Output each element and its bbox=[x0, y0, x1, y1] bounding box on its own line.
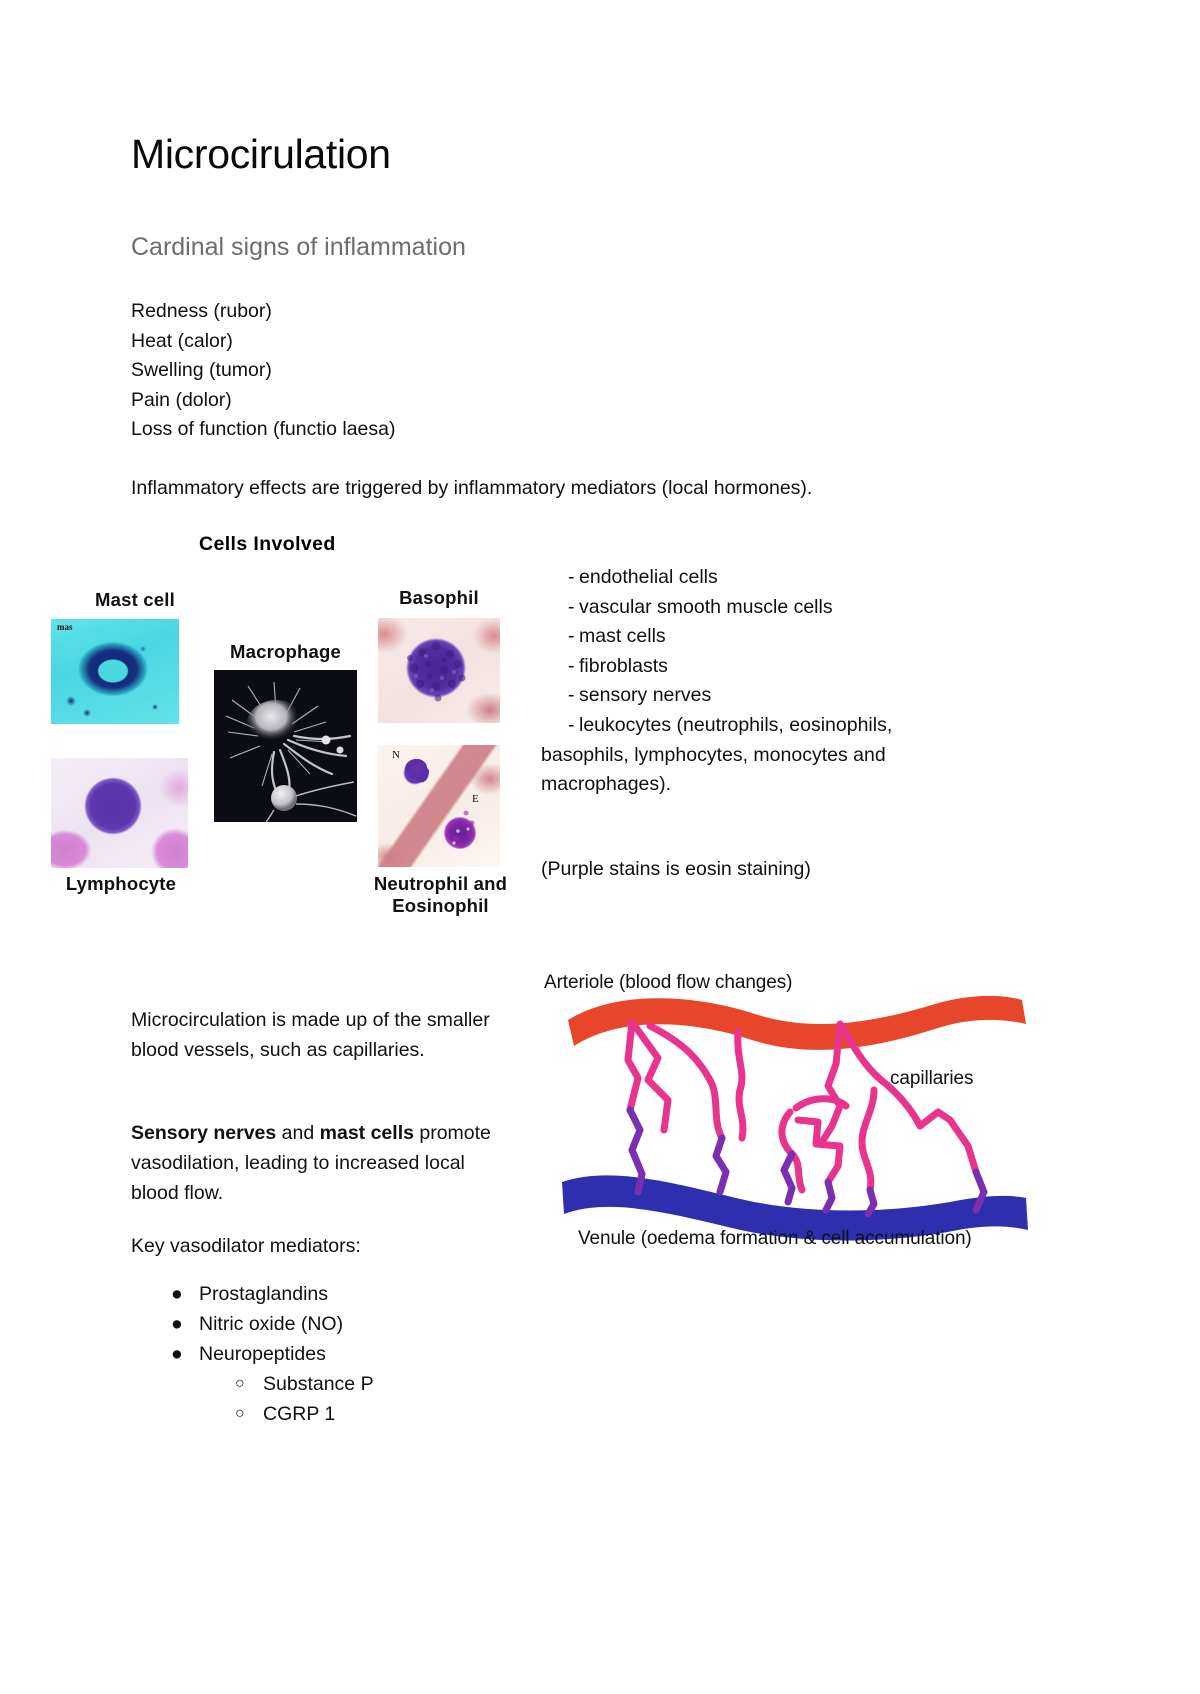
neutrophil-eosinophil-micrograph: N E bbox=[378, 745, 500, 867]
neuropeptides-sublist: ○ Substance P ○ CGRP 1 bbox=[199, 1369, 511, 1429]
figure-label-basophil: Basophil bbox=[378, 587, 500, 609]
eosinophil-granules bbox=[378, 745, 500, 867]
cells-list-item: -fibroblasts bbox=[541, 652, 991, 682]
cardinal-sign-item: Loss of function (functio laesa) bbox=[131, 415, 395, 445]
dash-bullet: - bbox=[541, 593, 579, 623]
dash-bullet: - bbox=[541, 681, 579, 711]
figure-label-neutrophil-eosinophil: Neutrophil and Eosinophil bbox=[368, 873, 513, 917]
mediators-statement: Inflammatory effects are triggered by in… bbox=[131, 474, 812, 503]
mast-cell-image-tag: mas bbox=[57, 622, 73, 632]
cells-list-item: -sensory nerves bbox=[541, 681, 991, 711]
neuropeptide-label: CGRP 1 bbox=[263, 1403, 335, 1425]
hollow-bullet-icon: ○ bbox=[235, 1369, 245, 1399]
cells-involved-heading: Cells Involved bbox=[199, 533, 336, 556]
cells-list-item-label: sensory nerves bbox=[579, 681, 711, 711]
cells-list-item-label: fibroblasts bbox=[579, 652, 668, 682]
cardinal-sign-item: Heat (calor) bbox=[131, 327, 395, 357]
page-title: Microcirulation bbox=[131, 131, 391, 178]
neutrophil-label-line2: Eosinophil bbox=[392, 895, 489, 916]
figure-label-mast-cell: Mast cell bbox=[70, 589, 200, 611]
cells-list-item: -leukocytes (neutrophils, eosinophils, bbox=[541, 711, 991, 741]
dash-bullet: - bbox=[541, 652, 579, 682]
eosinophil-label-mark: E bbox=[472, 793, 479, 805]
basophil-micrograph bbox=[378, 618, 500, 723]
mast-cell-micrograph: mas bbox=[51, 619, 179, 724]
microcirculation-diagram bbox=[540, 960, 1040, 1260]
cells-list-item: -vascular smooth muscle cells bbox=[541, 593, 991, 623]
bullet-dot-icon: ● bbox=[171, 1279, 183, 1309]
lymphocyte-micrograph bbox=[51, 758, 188, 868]
vasodilator-mediators-list: ● Prostaglandins ● Nitric oxide (NO) ● N… bbox=[131, 1279, 511, 1429]
list-item: ○ CGRP 1 bbox=[235, 1399, 511, 1429]
neutrophil-label-mark: N bbox=[392, 749, 400, 761]
cells-list-item: -mast cells bbox=[541, 622, 991, 652]
basophil-granules bbox=[378, 618, 500, 723]
cells-list-item-label: endothelial cells bbox=[579, 563, 718, 593]
document-page: Microcirulation Cardinal signs of inflam… bbox=[0, 0, 1200, 1694]
dash-bullet: - bbox=[541, 622, 579, 652]
arteriole-label: Arteriole (blood flow changes) bbox=[544, 972, 792, 994]
mast-cells-bold: mast cells bbox=[320, 1122, 414, 1144]
list-item: ● Nitric oxide (NO) bbox=[171, 1309, 511, 1339]
neutrophil-label-line1: Neutrophil and bbox=[374, 873, 507, 894]
figure-label-macrophage: Macrophage bbox=[208, 641, 363, 663]
sensory-nerves-bold: Sensory nerves bbox=[131, 1122, 276, 1144]
neuropeptide-label: Substance P bbox=[263, 1373, 374, 1395]
eosin-stain-note: (Purple stains is eosin staining) bbox=[541, 858, 811, 881]
figure-label-lymphocyte: Lymphocyte bbox=[51, 873, 191, 895]
microcirculation-diagram-art bbox=[540, 960, 1040, 1260]
list-item: ● Prostaglandins bbox=[171, 1279, 511, 1309]
cell-micrograph-figure: Mast cell mas Macrophage bbox=[48, 585, 518, 935]
key-mediators-heading: Key vasodilator mediators: bbox=[131, 1231, 491, 1261]
cardinal-signs-list: Redness (rubor) Heat (calor) Swelling (t… bbox=[131, 297, 395, 445]
paragraph2-connector: and bbox=[276, 1122, 319, 1144]
mediator-label: Prostaglandins bbox=[199, 1283, 328, 1305]
macrophage-micrograph bbox=[214, 670, 357, 822]
list-item: ○ Substance P bbox=[235, 1369, 511, 1399]
cells-list-item-continuation: basophils, lymphocytes, monocytes and ma… bbox=[541, 741, 991, 800]
microcirculation-definition-paragraph: Microcirculation is made up of the small… bbox=[131, 1005, 496, 1065]
venule-label: Venule (oedema formation & cell accumula… bbox=[578, 1228, 972, 1250]
cells-list-item-label: leukocytes (neutrophils, eosinophils, bbox=[579, 711, 892, 741]
hollow-bullet-icon: ○ bbox=[235, 1399, 245, 1429]
cardinal-sign-item: Swelling (tumor) bbox=[131, 356, 395, 386]
macrophage-sem-art bbox=[214, 670, 357, 822]
capillaries-label: capillaries bbox=[890, 1068, 973, 1090]
cells-list-item: -endothelial cells bbox=[541, 563, 991, 593]
mediators-ul: ● Prostaglandins ● Nitric oxide (NO) ● N… bbox=[131, 1279, 511, 1429]
section-subheading: Cardinal signs of inflammation bbox=[131, 232, 466, 262]
list-item: ● Neuropeptides ○ Substance P ○ CGRP 1 bbox=[171, 1339, 511, 1429]
dash-bullet: - bbox=[541, 711, 579, 741]
cells-list-item-label: vascular smooth muscle cells bbox=[579, 593, 833, 623]
mediator-label: Neuropeptides bbox=[199, 1343, 326, 1365]
cardinal-sign-item: Pain (dolor) bbox=[131, 386, 395, 416]
bullet-dot-icon: ● bbox=[171, 1309, 183, 1339]
bullet-dot-icon: ● bbox=[171, 1339, 183, 1369]
cardinal-sign-item: Redness (rubor) bbox=[131, 297, 395, 327]
dash-bullet: - bbox=[541, 563, 579, 593]
mediator-label: Nitric oxide (NO) bbox=[199, 1313, 343, 1335]
cells-involved-list: -endothelial cells -vascular smooth musc… bbox=[541, 563, 991, 800]
cells-list-item-label: mast cells bbox=[579, 622, 666, 652]
vasodilation-paragraph: Sensory nerves and mast cells promote va… bbox=[131, 1118, 491, 1208]
